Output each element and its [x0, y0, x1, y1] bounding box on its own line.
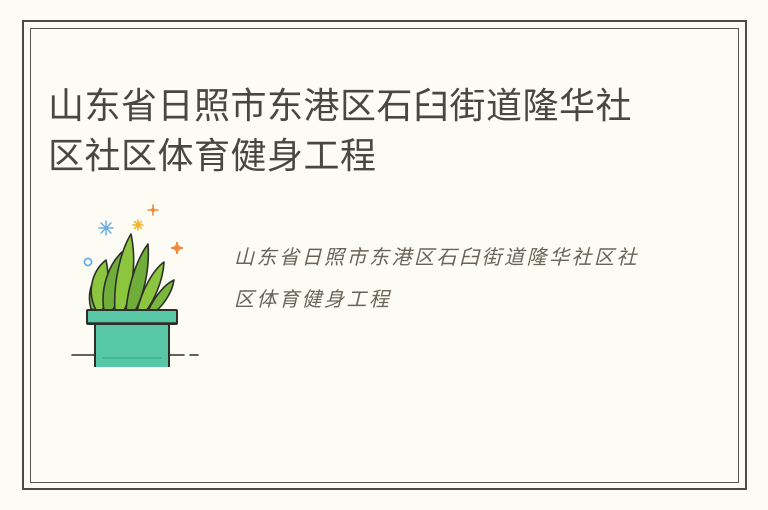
potted-plant-illustration: [58, 192, 203, 367]
pot-rim: [87, 310, 177, 324]
pot-body: [95, 324, 169, 367]
sparkle-dot-gold-core: [135, 222, 140, 227]
plant-pot: [87, 310, 177, 367]
plant-leaves: [89, 234, 174, 311]
document-page: 山东省日照市东港区石臼街道隆华社区社区体育健身工程: [0, 0, 768, 510]
page-title: 山东省日照市东港区石臼街道隆华社区社区体育健身工程: [48, 82, 648, 182]
sparkle-plus-orange-center: [151, 208, 155, 212]
body-text: 山东省日照市东港区石臼街道隆华社区社区体育健身工程: [234, 236, 654, 320]
sparkle-flower-orange-core: [175, 246, 179, 250]
sparkle-snowflake-core: [104, 226, 108, 230]
sparkle-circle-blue-icon: [84, 258, 91, 265]
